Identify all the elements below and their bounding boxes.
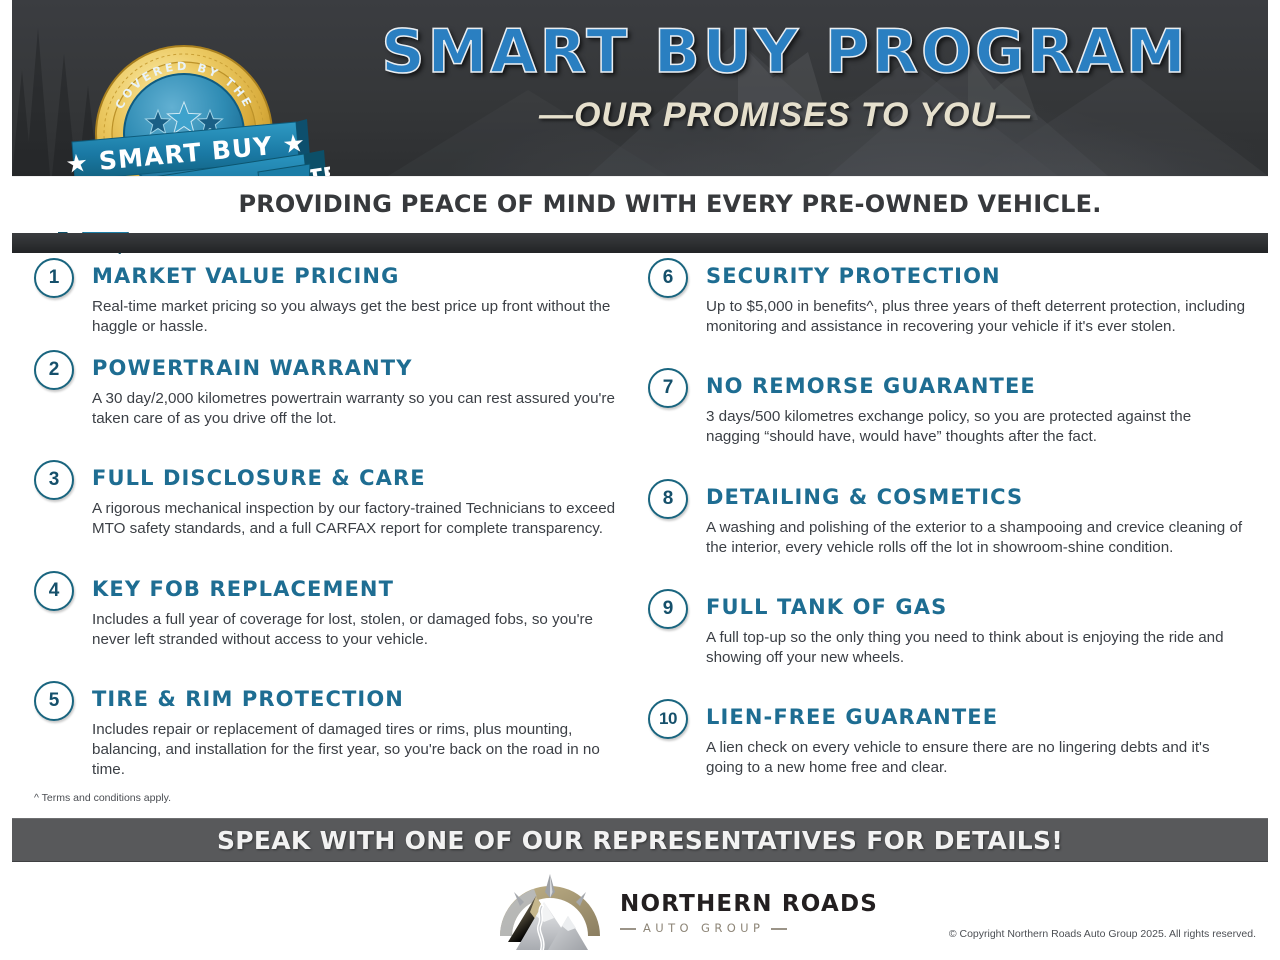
promise-body: A washing and polishing of the exterior … — [648, 518, 1248, 558]
promise-number-badge: 9 — [648, 589, 688, 629]
northern-roads-logo: NORTHERN ROADS AUTO GROUP — [490, 872, 878, 952]
promise-number-badge: 7 — [648, 368, 688, 408]
header-divider-strip — [12, 233, 1268, 253]
promises-content: 1 MARKET VALUE PRICING Real-time market … — [12, 258, 1268, 798]
promises-column-left: 1 MARKET VALUE PRICING Real-time market … — [34, 258, 634, 787]
promise-body: Includes repair or replacement of damage… — [34, 720, 634, 781]
copyright-text: © Copyright Northern Roads Auto Group 20… — [949, 928, 1256, 940]
promise-item: 6 SECURITY PROTECTION Up to $5,000 in be… — [648, 258, 1248, 362]
logo-dash-left-icon — [620, 928, 636, 929]
promise-body: A lien check on every vehicle to ensure … — [648, 738, 1248, 778]
promise-number-badge: 4 — [34, 571, 74, 611]
promise-item: 3 FULL DISCLOSURE & CARE A rigorous mech… — [34, 460, 634, 565]
promise-body: Up to $5,000 in benefits^, plus three ye… — [648, 297, 1248, 337]
promise-item: 5 TIRE & RIM PROTECTION Includes repair … — [34, 681, 634, 781]
promise-title: TIRE & RIM PROTECTION — [34, 681, 634, 717]
promise-number-badge: 5 — [34, 681, 74, 721]
logo-tagline-row: AUTO GROUP — [620, 923, 878, 935]
promise-number-badge: 1 — [34, 258, 74, 298]
promise-number-badge: 2 — [34, 350, 74, 390]
logo-company-name: NORTHERN ROADS — [620, 893, 878, 916]
promise-title: LIEN-FREE GUARANTEE — [648, 699, 1248, 735]
promise-title: POWERTRAIN WARRANTY — [34, 350, 634, 386]
promise-item: 8 DETAILING & COSMETICS A washing and po… — [648, 479, 1248, 583]
tagline-band: PROVIDING PEACE OF MIND WITH EVERY PRE-O… — [12, 176, 1268, 232]
promises-column-right: 6 SECURITY PROTECTION Up to $5,000 in be… — [648, 258, 1248, 784]
promise-title: FULL DISCLOSURE & CARE — [34, 460, 634, 496]
mountain-compass-logo-icon — [490, 872, 610, 952]
promise-item: 4 KEY FOB REPLACEMENT Includes a full ye… — [34, 571, 634, 675]
promise-item: 10 LIEN-FREE GUARANTEE A lien check on e… — [648, 699, 1248, 778]
promise-number-badge: 8 — [648, 479, 688, 519]
page-subtitle: —OUR PROMISES TO YOU— — [312, 96, 1258, 135]
logo-wordmark: NORTHERN ROADS AUTO GROUP — [620, 889, 878, 935]
promise-number-badge: 3 — [34, 460, 74, 500]
promise-item: 9 FULL TANK OF GAS A full top-up so the … — [648, 589, 1248, 693]
promise-body: Includes a full year of coverage for los… — [34, 610, 634, 650]
promise-title: DETAILING & COSMETICS — [648, 479, 1248, 515]
promise-item: 2 POWERTRAIN WARRANTY A 30 day/2,000 kil… — [34, 350, 634, 454]
promise-title: FULL TANK OF GAS — [648, 589, 1248, 625]
cta-text: SPEAK WITH ONE OF OUR REPRESENTATIVES FO… — [217, 826, 1063, 855]
promise-body: 3 days/500 kilometres exchange policy, s… — [648, 407, 1248, 447]
promise-title: MARKET VALUE PRICING — [34, 258, 634, 294]
promise-title: NO REMORSE GUARANTEE — [648, 368, 1248, 404]
terms-note: ^ Terms and conditions apply. — [34, 792, 171, 804]
promise-title: SECURITY PROTECTION — [648, 258, 1248, 294]
footer: NORTHERN ROADS AUTO GROUP © Copyright No… — [0, 866, 1280, 960]
page-title: SMART BUY PROGRAM — [312, 22, 1258, 82]
smart-buy-program-flyer: SMART BUY PROGRAM —OUR PROMISES TO YOU— — [0, 0, 1280, 960]
tagline-text: PROVIDING PEACE OF MIND WITH EVERY PRE-O… — [178, 190, 1101, 218]
logo-company-sub: AUTO GROUP — [643, 923, 764, 935]
cta-bar[interactable]: SPEAK WITH ONE OF OUR REPRESENTATIVES FO… — [12, 818, 1268, 862]
promise-body: Real-time market pricing so you always g… — [34, 297, 634, 337]
promise-number-badge: 10 — [648, 699, 688, 739]
promise-title: KEY FOB REPLACEMENT — [34, 571, 634, 607]
promise-number-badge: 6 — [648, 258, 688, 298]
header-title-block: SMART BUY PROGRAM —OUR PROMISES TO YOU— — [312, 22, 1258, 135]
promise-body: A full top-up so the only thing you need… — [648, 628, 1248, 668]
promise-item: 1 MARKET VALUE PRICING Real-time market … — [34, 258, 634, 344]
logo-dash-right-icon — [771, 928, 787, 929]
promise-body: A 30 day/2,000 kilometres powertrain war… — [34, 389, 634, 429]
promise-body: A rigorous mechanical inspection by our … — [34, 499, 634, 539]
promise-item: 7 NO REMORSE GUARANTEE 3 days/500 kilome… — [648, 368, 1248, 473]
